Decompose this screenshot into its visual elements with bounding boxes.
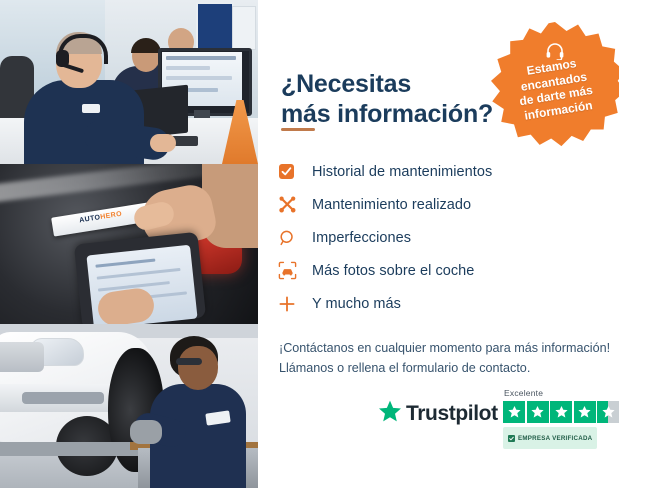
feature-label: Más fotos sobre el coche <box>312 263 474 279</box>
feature-item-fotos: Más fotos sobre el coche <box>278 254 578 287</box>
agent-hand <box>150 134 176 152</box>
star-filled <box>574 401 596 423</box>
feature-item-historial: Historial de mantenimientos <box>278 155 578 188</box>
feature-label: Imperfecciones <box>312 230 411 246</box>
magnifier-icon <box>278 229 312 247</box>
bumper-vent <box>22 392 104 404</box>
trustpilot-rating: Excelente <box>503 388 627 449</box>
screen-row <box>166 76 232 80</box>
trustpilot-wordmark: Trustpilot <box>406 402 498 426</box>
inspection-ruler-photo: AUTOHERO <box>0 164 258 324</box>
feature-item-mucho-mas: Y mucho más <box>278 287 578 320</box>
star-filled <box>503 401 525 423</box>
agent-name-badge <box>82 104 100 113</box>
safety-glasses-icon <box>176 358 202 365</box>
star-half <box>597 401 619 423</box>
checkbox-checked-icon <box>278 163 312 180</box>
feature-item-mantenimiento: Mantenimiento realizado <box>278 188 578 221</box>
car-grille <box>0 342 44 372</box>
screen-row <box>166 56 236 60</box>
trustpilot-star-icon <box>378 400 402 428</box>
mechanic-head <box>178 346 218 390</box>
star-rating <box>503 401 627 423</box>
trustpilot-logo: Trustpilot <box>378 400 498 428</box>
tablet-row <box>95 258 155 267</box>
plus-icon <box>278 295 312 313</box>
tablet-row <box>97 268 181 280</box>
mechanic-glove <box>130 420 162 444</box>
title-divider <box>281 128 315 131</box>
wall-poster-secondary <box>232 6 256 50</box>
feature-list: Historial de mantenimientos M <box>278 155 578 320</box>
verified-check-icon <box>508 429 515 447</box>
screen-row <box>166 66 210 70</box>
star-filled <box>550 401 572 423</box>
content-panel: ¿Necesitas más información? Estamos enca… <box>258 0 650 488</box>
autohero-brand-second: HERO <box>100 211 123 221</box>
autohero-brand-first: AUTO <box>79 214 101 224</box>
promo-card: AUTOHERO <box>0 0 650 488</box>
feature-label: Mantenimiento realizado <box>312 197 471 213</box>
car-lift-arm <box>0 442 150 456</box>
support-badge: Estamos encantados de darte más informac… <box>491 22 619 150</box>
trustpilot-widget[interactable]: Trustpilot Excelente <box>378 388 628 454</box>
verified-badge: EMPRESA VERIFICADA <box>503 427 597 449</box>
star-filled <box>527 401 549 423</box>
mechanic-wheel-photo <box>0 324 258 488</box>
headline-line-1: ¿Necesitas <box>281 70 411 98</box>
car-photo-frame-icon <box>278 261 312 280</box>
call-center-agent-photo <box>0 0 258 164</box>
rating-label: Excelente <box>504 388 627 398</box>
feature-label: Historial de mantenimientos <box>312 164 492 180</box>
photo-strip: AUTOHERO <box>0 0 258 488</box>
contact-line-2: Llámanos o rellena el formulario de cont… <box>279 358 631 378</box>
verified-label: EMPRESA VERIFICADA <box>518 435 592 442</box>
contact-line-1: ¡Contáctanos en cualquier momento para m… <box>279 338 631 358</box>
feature-label: Y mucho más <box>312 296 401 312</box>
tools-crossed-icon <box>278 195 312 214</box>
contact-copy: ¡Contáctanos en cualquier momento para m… <box>279 338 631 379</box>
feature-item-imperfecciones: Imperfecciones <box>278 221 578 254</box>
